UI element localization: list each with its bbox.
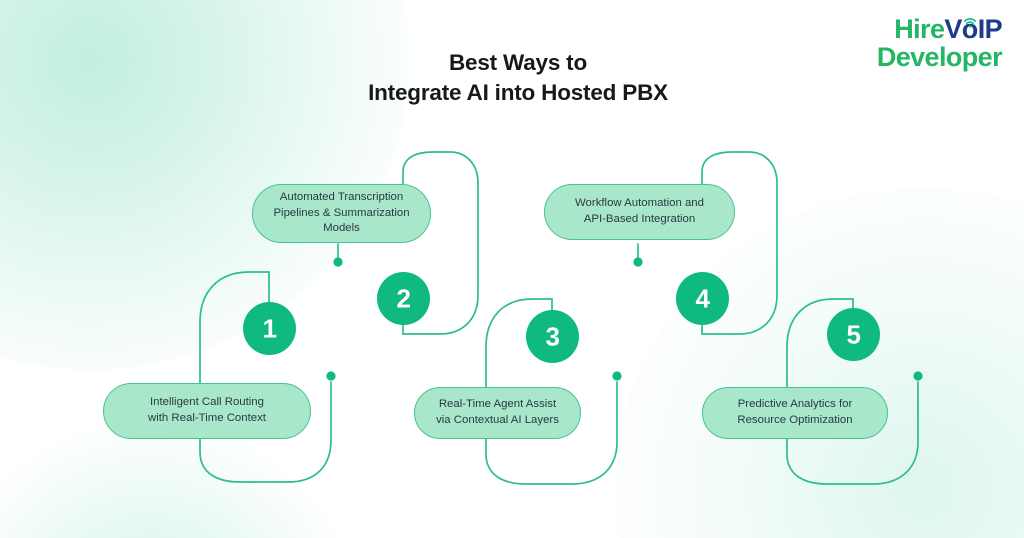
page-title-line-2: Integrate AI into Hosted PBX <box>12 78 1024 108</box>
brand-logo-ip: IP <box>978 14 1002 44</box>
step-number-3-value: 3 <box>546 323 560 349</box>
step-card-3[interactable]: Real-Time Agent Assist via Contextual AI… <box>414 387 581 439</box>
connector-5-dot <box>913 371 922 380</box>
brand-logo-line-1: HireVo IP <box>877 16 1002 44</box>
step-number-1[interactable]: 1 <box>243 302 296 355</box>
step-number-4[interactable]: 4 <box>676 272 729 325</box>
wifi-signal-icon <box>963 17 976 28</box>
step-card-2-label: Automated Transcription Pipelines & Summ… <box>273 190 409 237</box>
step-number-5-value: 5 <box>847 321 861 347</box>
step-number-1-value: 1 <box>263 315 277 341</box>
infographic-canvas: Best Ways to Integrate AI into Hosted PB… <box>0 0 1024 538</box>
page-title-line-1: Best Ways to <box>12 48 1024 78</box>
step-card-3-label: Real-Time Agent Assist via Contextual AI… <box>436 397 559 428</box>
brand-logo-o: o <box>962 16 978 44</box>
connector-2-dot <box>333 257 342 266</box>
step-card-4-label: Workflow Automation and API-Based Integr… <box>575 196 704 227</box>
step-card-5[interactable]: Predictive Analytics for Resource Optimi… <box>702 387 888 439</box>
connector-3-dot <box>612 371 621 380</box>
brand-logo-line-2: Developer <box>877 44 1002 72</box>
brand-logo-hire: Hire <box>894 14 944 44</box>
step-number-2[interactable]: 2 <box>377 272 430 325</box>
step-number-4-value: 4 <box>696 285 710 311</box>
step-card-1[interactable]: Intelligent Call Routing with Real-Time … <box>103 383 311 439</box>
background-glow-bottom-right <box>614 188 1024 538</box>
step-number-3[interactable]: 3 <box>526 310 579 363</box>
connector-4-dot <box>633 257 642 266</box>
step-card-1-label: Intelligent Call Routing with Real-Time … <box>148 395 266 426</box>
brand-logo-v: V <box>944 14 961 44</box>
step-number-2-value: 2 <box>397 285 411 311</box>
step-card-5-label: Predictive Analytics for Resource Optimi… <box>737 397 852 428</box>
page-title: Best Ways to Integrate AI into Hosted PB… <box>0 48 1024 108</box>
step-card-4[interactable]: Workflow Automation and API-Based Integr… <box>544 184 735 240</box>
step-number-5[interactable]: 5 <box>827 308 880 361</box>
connector-1-dot <box>326 371 335 380</box>
step-card-2[interactable]: Automated Transcription Pipelines & Summ… <box>252 184 431 243</box>
brand-logo[interactable]: HireVo IP Developer <box>877 16 1002 71</box>
